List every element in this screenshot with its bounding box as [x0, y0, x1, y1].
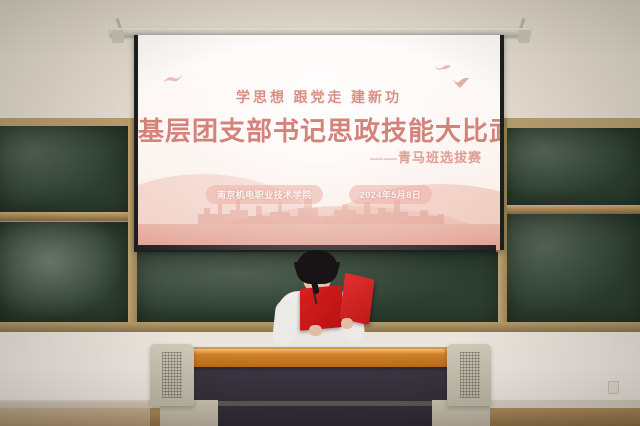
projection-screen: 学思想 跟党走 建新功 基层团支部书记思政技能大比武 ——青马班选拔赛 南京机电…: [134, 35, 504, 250]
lectern-lower-panel: [205, 404, 437, 426]
floor-left-strip: [0, 402, 150, 426]
screen-endcap-right: [518, 30, 530, 43]
blackboard-panel-left-bottom: [0, 222, 128, 322]
lectern-front-panel: [190, 366, 452, 406]
blackboard-panel-right-top: [506, 128, 640, 206]
bird-icon-right-1: [434, 63, 452, 74]
classroom-photo-scene: 学思想 跟党走 建新功 基层团支部书记思政技能大比武 ——青马班选拔赛 南京机电…: [0, 0, 640, 426]
speaker-grille-left: [162, 352, 182, 398]
slide-slogan: 学思想 跟党走 建新功: [138, 87, 500, 107]
blackboard-panel-left-top: [0, 126, 128, 214]
slide-badge-institution: 南京机电职业技术学院: [206, 185, 323, 204]
bird-icon-left: [162, 73, 184, 85]
presenter-hand-right: [341, 318, 353, 329]
chalk-ledge-right: [502, 205, 640, 214]
red-folder-left-page: [300, 285, 342, 331]
chalk-ledge-left: [0, 212, 132, 221]
lectern-shelf: [190, 401, 452, 406]
lectern-top-highlight: [190, 349, 445, 354]
presenter-hair: [296, 250, 338, 284]
presenter-hand-left: [309, 325, 322, 336]
slide-subtitle: ——青马班选拔赛: [370, 147, 482, 166]
speaker-grille-right: [460, 352, 480, 398]
screen-endcap-left: [112, 30, 124, 43]
slide-badge-date: 2024年5月8日: [349, 185, 433, 204]
wall-outlet: [608, 381, 619, 394]
slide-badge-row: 南京机电职业技术学院 2024年5月8日: [138, 185, 500, 204]
slide-title: 基层团支部书记思政技能大比武: [138, 111, 500, 148]
blackboard-panel-right-bottom: [506, 214, 640, 322]
